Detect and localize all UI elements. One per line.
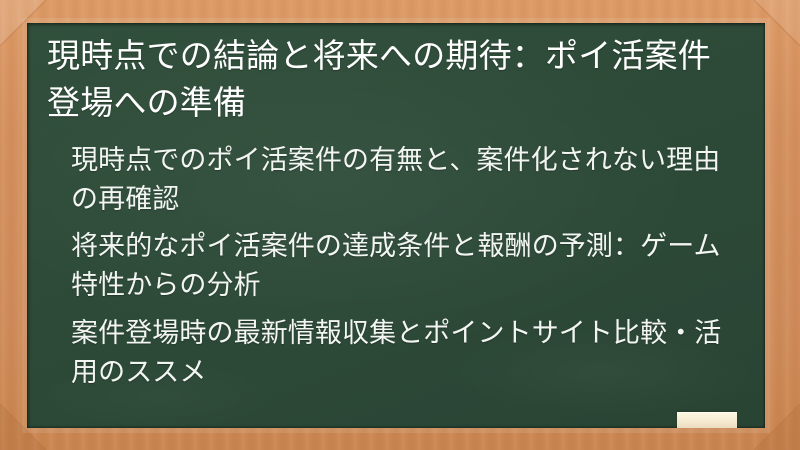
chalk-eraser-icon	[677, 412, 737, 428]
chalkboard-slide: 現時点での結論と将来への期待：ポイ活案件登場への準備 現時点でのポイ活案件の有無…	[0, 0, 800, 450]
slide-title: 現時点での結論と将来への期待：ポイ活案件登場への準備	[41, 33, 751, 127]
list-item: 将来的なポイ活案件の達成条件と報酬の予測：ゲーム特性からの分析	[41, 227, 751, 305]
chalkboard-surface: 現時点での結論と将来への期待：ポイ活案件登場への準備 現時点でのポイ活案件の有無…	[27, 23, 765, 428]
board-content: 現時点での結論と将来への期待：ポイ活案件登場への準備 現時点でのポイ活案件の有無…	[27, 23, 765, 428]
list-item: 現時点でのポイ活案件の有無と、案件化されない理由の再確認	[41, 141, 751, 219]
list-item: 案件登場時の最新情報収集とポイントサイト比較・活用のススメ	[41, 314, 751, 392]
bullet-list: 現時点でのポイ活案件の有無と、案件化されない理由の再確認 将来的なポイ活案件の達…	[41, 141, 751, 392]
